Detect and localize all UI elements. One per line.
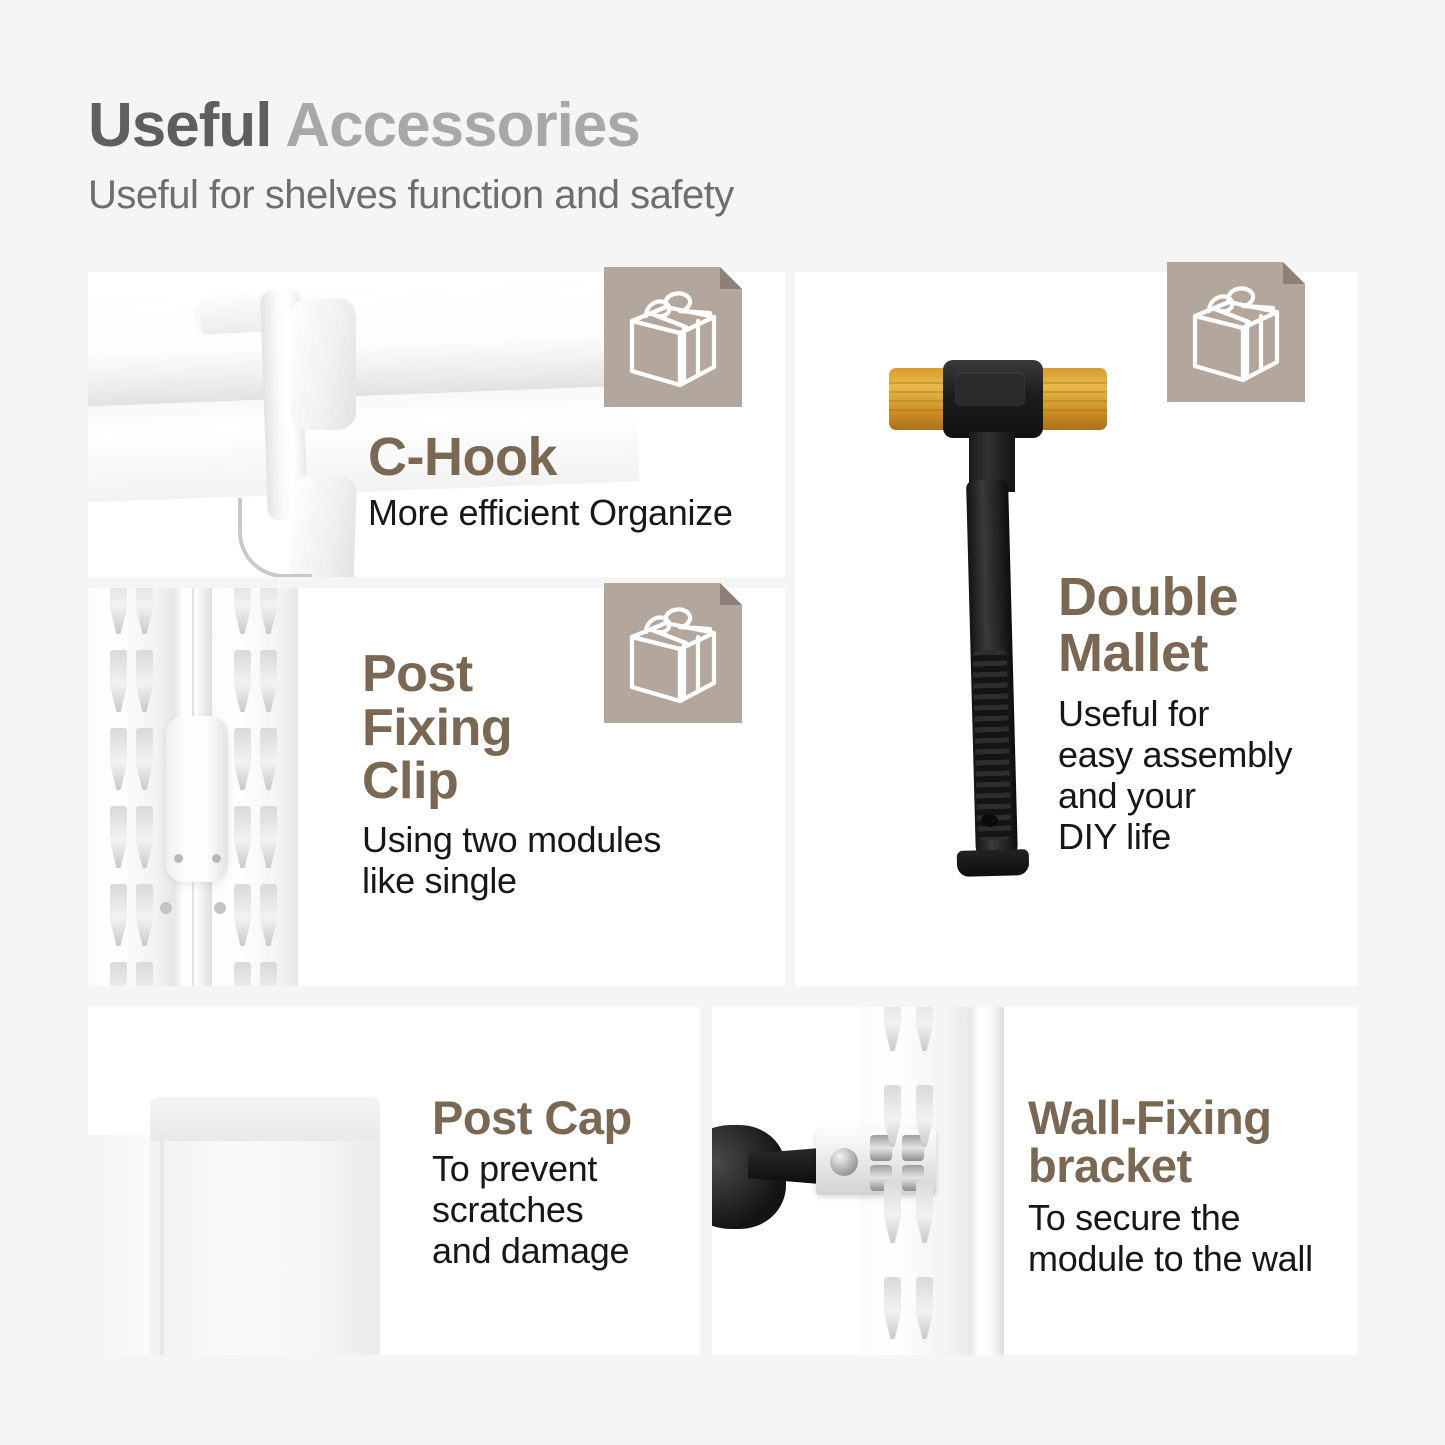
feature-body-post-cap-line3: and damage	[432, 1230, 632, 1271]
feature-body-c-hook: More efficient Organize	[368, 492, 733, 533]
gift-box-icon	[622, 283, 724, 389]
post-keyhole-slot	[136, 962, 153, 986]
mallet-hang-hole	[981, 814, 998, 827]
feature-title-post-cap: Post Cap	[432, 1094, 632, 1142]
post-hole-right	[214, 902, 226, 914]
feature-body-wall-fixing-bracket-line1: To secure the	[1028, 1197, 1313, 1238]
post-cap-edge-highlight	[160, 1135, 164, 1355]
mallet-head-plate	[955, 372, 1025, 406]
c-hook-hanging-wire	[238, 498, 312, 577]
slotted-post-left-panel	[88, 588, 174, 986]
feature-title-c-hook: C-Hook	[368, 430, 733, 486]
feature-title-double-mallet-line1: Double	[1058, 570, 1340, 626]
post-fixing-clip-product-photo	[88, 588, 298, 986]
post-keyhole-slot	[110, 962, 127, 986]
c-hook-upper-tab	[290, 298, 356, 430]
post-cap-background-post	[88, 1135, 158, 1355]
page-title-strong: Useful	[88, 91, 285, 160]
feature-body-post-cap-line2: scratches	[432, 1189, 632, 1230]
feature-body-double-mallet-line1: Useful for	[1058, 693, 1340, 734]
feature-title-post-fixing-clip-line3: Clip	[362, 755, 661, 809]
feature-body-double-mallet-line2: easy assembly	[1058, 734, 1340, 775]
post-cap-top-face	[150, 1097, 380, 1141]
page-title: Useful Accessories	[88, 95, 1358, 157]
mallet-face-right	[1035, 368, 1107, 430]
feature-title-double-mallet-line2: Mallet	[1058, 626, 1340, 682]
feature-body-double-mallet-line3: and your	[1058, 775, 1340, 816]
mallet-handle-butt	[957, 849, 1030, 877]
page-subtitle: Useful for shelves function and safety	[88, 173, 1358, 218]
page-header: Useful Accessories Useful for shelves fu…	[88, 95, 1358, 218]
post-hole-left	[160, 902, 172, 914]
feature-title-wall-fixing-bracket-line1: Wall-Fixing	[1028, 1094, 1313, 1142]
feature-title-post-fixing-clip-line2: Fixing	[362, 702, 661, 756]
feature-body-double-mallet-line4: DIY life	[1058, 816, 1340, 857]
feature-body-post-cap-line1: To prevent	[432, 1148, 632, 1189]
mallet-grip-ridges	[973, 650, 1012, 841]
clip-collar-dot-left	[174, 854, 183, 863]
feature-body-post-fixing-clip-line2: like single	[362, 860, 661, 901]
feature-title-wall-fixing-bracket-line2: bracket	[1028, 1142, 1313, 1190]
clip-collar-dot-right	[212, 854, 221, 863]
post-keyhole-slot	[234, 962, 251, 986]
gift-box-icon	[1185, 278, 1287, 384]
wall-bracket-bolt	[830, 1148, 858, 1176]
post-cap-body	[150, 1133, 380, 1355]
post-keyhole-slot	[260, 962, 277, 986]
gift-badge-c-hook	[604, 267, 742, 407]
wall-fixing-bracket-product-photo	[712, 1007, 1012, 1355]
gift-badge-double-mallet	[1167, 262, 1305, 402]
feature-text-double-mallet: Double Mallet Useful for easy assembly a…	[1058, 570, 1340, 857]
page-title-light: Accessories	[285, 91, 639, 160]
wall-post-side-rail	[970, 1007, 1004, 1355]
feature-text-c-hook: C-Hook More efficient Organize	[368, 430, 733, 533]
feature-text-post-cap: Post Cap To prevent scratches and damage	[432, 1094, 632, 1272]
feature-title-post-fixing-clip-line1: Post	[362, 648, 661, 702]
feature-body-post-fixing-clip-line1: Using two modules	[362, 819, 661, 860]
feature-text-wall-fixing-bracket: Wall-Fixing bracket To secure the module…	[1028, 1094, 1313, 1279]
feature-body-wall-fixing-bracket-line2: module to the wall	[1028, 1238, 1313, 1279]
feature-text-post-fixing-clip: Post Fixing Clip Using two modules like …	[362, 648, 661, 901]
